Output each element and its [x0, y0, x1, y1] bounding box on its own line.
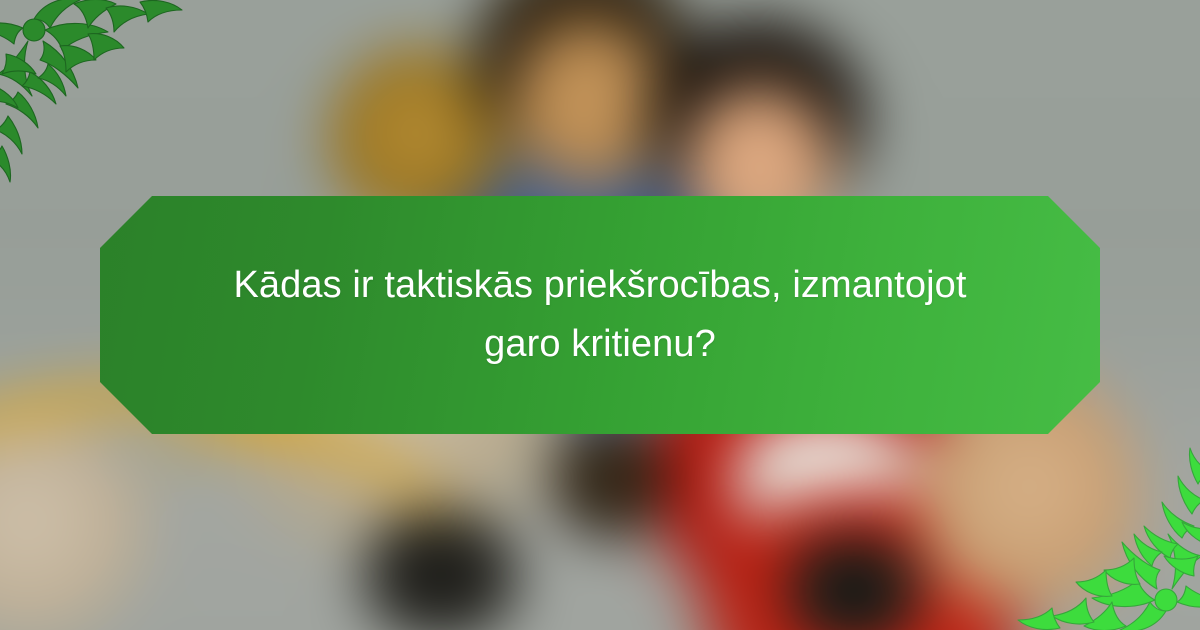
background-dark-object-left	[346, 511, 537, 630]
background-dark-object-center	[547, 416, 674, 543]
headline-text: Kādas ir taktiskās priekšrocības, izmant…	[220, 256, 980, 374]
headline-banner: Kādas ir taktiskās priekšrocības, izmant…	[100, 196, 1100, 434]
social-share-card: Kādas ir taktiskās priekšrocības, izmant…	[0, 0, 1200, 630]
